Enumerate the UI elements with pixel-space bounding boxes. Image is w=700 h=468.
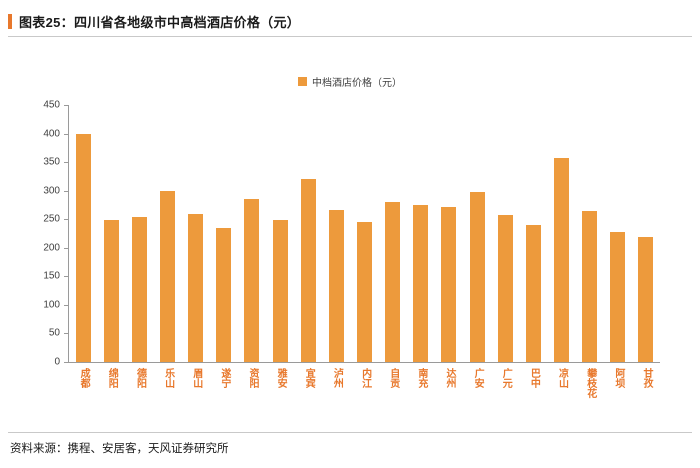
bar — [470, 192, 485, 362]
x-tick-label: 资阳 — [247, 368, 257, 388]
bar-slot — [576, 105, 604, 362]
bar — [610, 232, 625, 362]
bar-slot — [153, 105, 181, 362]
x-tick-label: 南充 — [416, 368, 426, 388]
bar — [216, 228, 231, 362]
y-tick-label: 250 — [30, 214, 60, 225]
bar-slot — [519, 105, 547, 362]
y-tick-mark — [64, 333, 68, 334]
bar-slot — [266, 105, 294, 362]
title-accent-bar — [8, 14, 12, 29]
footer-divider — [8, 432, 692, 433]
x-label-slot: 资阳 — [238, 368, 266, 388]
bar-series — [69, 105, 660, 362]
bar — [329, 210, 344, 362]
bar-slot — [350, 105, 378, 362]
y-tick-mark — [64, 191, 68, 192]
y-tick-label: 50 — [30, 328, 60, 339]
title-text: 图表25：四川省各地级市中高档酒店价格（元） — [19, 12, 300, 31]
legend-label: 中档酒店价格（元） — [312, 74, 402, 89]
x-tick-label: 自贡 — [388, 368, 398, 388]
x-tick-label: 雅安 — [275, 368, 285, 388]
bar-slot — [379, 105, 407, 362]
y-tick-mark — [64, 162, 68, 163]
x-label-slot: 遂宁 — [210, 368, 238, 388]
bar-slot — [632, 105, 660, 362]
x-label-slot: 自贡 — [379, 368, 407, 388]
chart-canvas: 050100150200250300350400450 成都绵阳德阳乐山眉山遂宁… — [0, 92, 700, 392]
y-tick-mark — [64, 105, 68, 106]
x-label-slot: 达州 — [435, 368, 463, 388]
bar — [76, 134, 91, 362]
x-tick-label: 凉山 — [556, 368, 566, 388]
y-tick-mark — [64, 276, 68, 277]
bar-slot — [210, 105, 238, 362]
y-tick-mark — [64, 134, 68, 135]
bar-slot — [322, 105, 350, 362]
y-tick-mark — [64, 362, 68, 363]
x-tick-label: 达州 — [444, 368, 454, 388]
y-tick-label: 350 — [30, 157, 60, 168]
legend-swatch-icon — [298, 77, 307, 86]
bar — [582, 211, 597, 362]
y-tick-label: 0 — [30, 357, 60, 368]
bar — [357, 222, 372, 362]
x-label-slot: 广元 — [491, 368, 519, 388]
bar — [188, 214, 203, 362]
bar — [244, 199, 259, 362]
x-label-slot: 绵阳 — [97, 368, 125, 388]
x-tick-label: 巴中 — [528, 368, 538, 388]
x-label-slot: 德阳 — [125, 368, 153, 388]
x-tick-label: 泸州 — [331, 368, 341, 388]
bar — [385, 202, 400, 362]
bar-slot — [125, 105, 153, 362]
bar — [104, 220, 119, 362]
x-label-slot: 内江 — [350, 368, 378, 388]
bar-slot — [463, 105, 491, 362]
page-title: 图表25：四川省各地级市中高档酒店价格（元） — [8, 6, 692, 36]
y-tick-label: 200 — [30, 242, 60, 253]
x-tick-label: 成都 — [78, 368, 88, 388]
x-label-slot: 巴中 — [519, 368, 547, 388]
bar — [441, 207, 456, 362]
bar — [638, 237, 653, 362]
bar-slot — [182, 105, 210, 362]
x-tick-label: 广元 — [500, 368, 510, 388]
x-label-slot: 甘孜 — [632, 368, 660, 388]
bar — [554, 158, 569, 362]
x-tick-label: 广安 — [472, 368, 482, 388]
bar-slot — [491, 105, 519, 362]
x-label-slot: 眉山 — [182, 368, 210, 388]
x-label-slot: 广安 — [463, 368, 491, 388]
x-tick-label: 宜宾 — [303, 368, 313, 388]
x-label-slot: 宜宾 — [294, 368, 322, 388]
x-tick-label: 甘孜 — [641, 368, 651, 388]
x-label-slot: 攀枝花 — [576, 368, 604, 398]
bar-slot — [435, 105, 463, 362]
title-divider — [8, 36, 692, 37]
x-tick-label: 绵阳 — [106, 368, 116, 388]
bar-slot — [604, 105, 632, 362]
bar — [160, 191, 175, 362]
x-label-slot: 阿坝 — [604, 368, 632, 388]
bar-slot — [69, 105, 97, 362]
y-tick-label: 150 — [30, 271, 60, 282]
x-tick-label: 乐山 — [162, 368, 172, 388]
x-label-slot: 南充 — [407, 368, 435, 388]
bar — [526, 225, 541, 362]
bar — [498, 215, 513, 362]
y-tick-label: 450 — [30, 100, 60, 111]
x-label-slot: 成都 — [69, 368, 97, 388]
y-tick-mark — [64, 305, 68, 306]
bar-slot — [407, 105, 435, 362]
bar-slot — [97, 105, 125, 362]
bar — [132, 217, 147, 362]
bar-slot — [547, 105, 575, 362]
bar — [273, 220, 288, 362]
x-tick-label: 德阳 — [134, 368, 144, 388]
x-label-slot: 凉山 — [547, 368, 575, 388]
x-tick-label: 内江 — [359, 368, 369, 388]
y-tick-label: 400 — [30, 128, 60, 139]
x-label-slot: 乐山 — [153, 368, 181, 388]
x-tick-label: 阿坝 — [613, 368, 623, 388]
y-tick-label: 100 — [30, 299, 60, 310]
bar — [413, 205, 428, 362]
chart-legend: 中档酒店价格（元） — [0, 74, 700, 89]
x-tick-label: 攀枝花 — [585, 368, 595, 398]
y-tick-mark — [64, 219, 68, 220]
bar-slot — [294, 105, 322, 362]
x-tick-label: 遂宁 — [219, 368, 229, 388]
x-axis-line — [68, 362, 660, 363]
x-tick-label: 眉山 — [191, 368, 201, 388]
x-label-slot: 泸州 — [322, 368, 350, 388]
y-tick-mark — [64, 248, 68, 249]
chart-page: 图表25：四川省各地级市中高档酒店价格（元） 中档酒店价格（元） 0501001… — [0, 0, 700, 468]
bar — [301, 179, 316, 362]
x-label-slot: 雅安 — [266, 368, 294, 388]
bar-slot — [238, 105, 266, 362]
y-tick-label: 300 — [30, 185, 60, 196]
source-note: 资料来源：携程、安居客，天风证券研究所 — [10, 440, 229, 456]
x-axis-labels: 成都绵阳德阳乐山眉山遂宁资阳雅安宜宾泸州内江自贡南充达州广安广元巴中凉山攀枝花阿… — [69, 368, 660, 398]
